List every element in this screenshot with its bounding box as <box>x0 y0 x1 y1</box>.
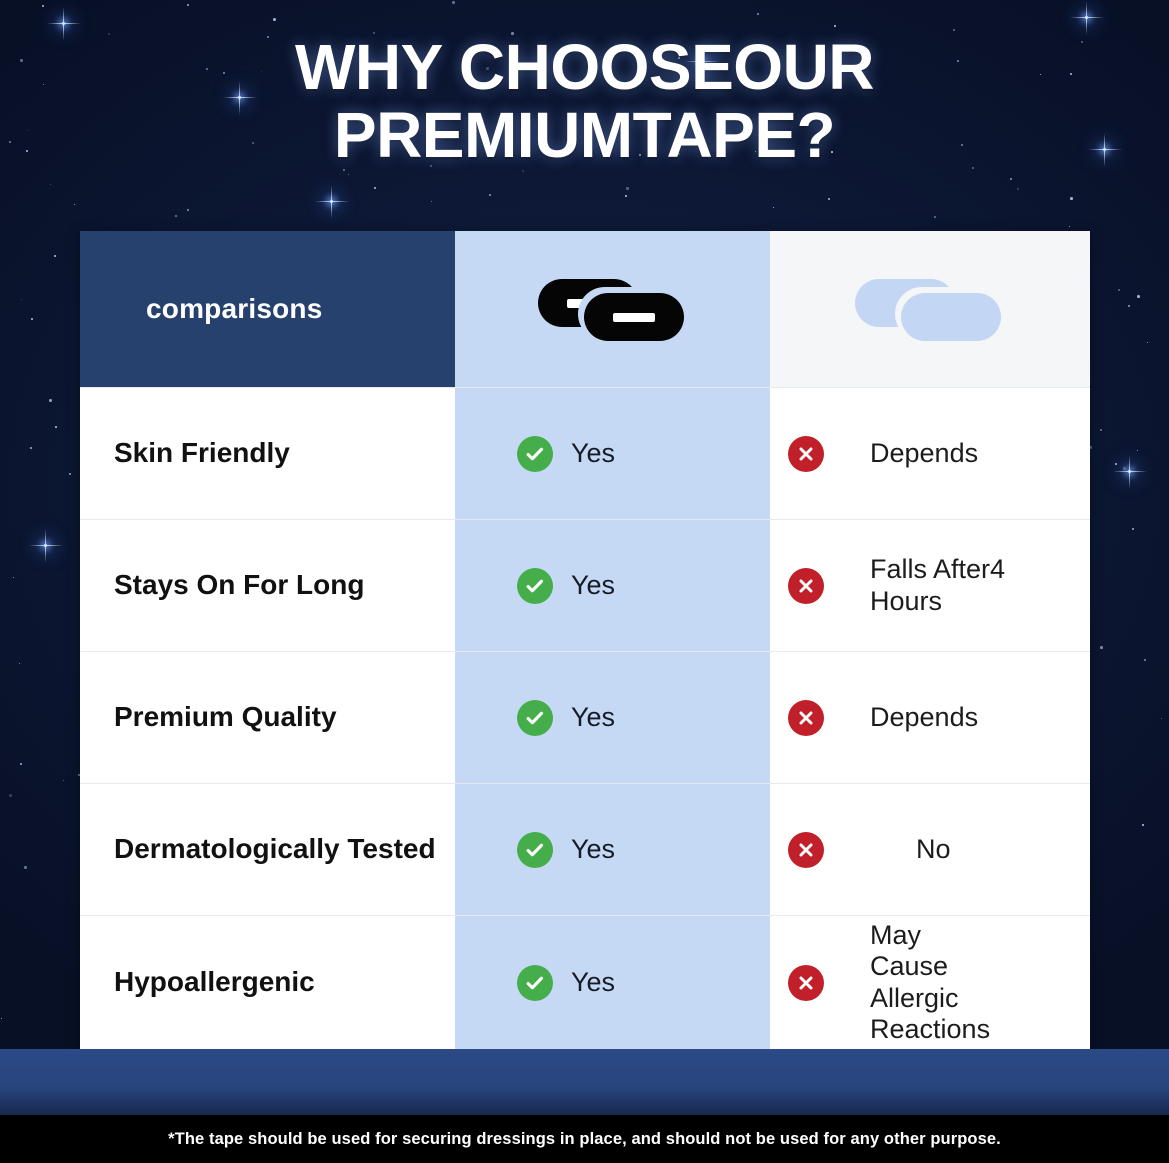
star-dot <box>1100 429 1102 431</box>
star-dot <box>1010 178 1012 180</box>
logo-bar-front <box>613 313 655 322</box>
star-dot <box>374 187 376 189</box>
bright-star-icon <box>62 22 65 25</box>
logo-pill-front <box>584 293 684 341</box>
our-product-cell: Yes <box>455 652 770 783</box>
star-dot <box>30 447 32 449</box>
header-cell-our-product <box>455 231 770 387</box>
star-dot <box>1100 646 1103 649</box>
star-dot <box>452 1 455 4</box>
page-title-line-2: PREMIUMTAPE? <box>120 102 1049 170</box>
star-dot <box>69 473 71 475</box>
star-dot <box>1161 718 1162 719</box>
x-circle-icon <box>788 700 824 736</box>
x-circle-icon <box>788 832 824 868</box>
other-product-value: Falls After4 Hours <box>844 554 1034 616</box>
star-dot <box>625 195 627 197</box>
x-circle-icon <box>788 568 824 604</box>
star-dot <box>757 13 759 15</box>
star-dot <box>54 255 56 257</box>
feature-label: Premium Quality <box>114 701 337 733</box>
star-dot <box>13 577 14 578</box>
star-dot <box>19 663 20 664</box>
other-product-cell: May Cause Allergic Reactions <box>770 916 1090 1049</box>
footer-disclaimer: *The tape should be used for securing dr… <box>168 1130 1001 1149</box>
star-dot <box>42 5 44 7</box>
table-header-row: comparisons <box>80 231 1090 387</box>
star-dot <box>1 1018 2 1019</box>
overlapping-pills-logo-light-icon <box>855 277 1005 341</box>
lower-blue-band <box>0 1049 1169 1115</box>
table-row: Dermatologically Tested Yes No <box>80 783 1090 915</box>
other-product-cell: Depends <box>770 652 1090 783</box>
footer-bar: *The tape should be used for securing dr… <box>0 1115 1169 1163</box>
our-product-value: Yes <box>571 834 615 865</box>
feature-label: Dermatologically Tested <box>114 833 436 865</box>
table-row: Premium Quality Yes Depends <box>80 651 1090 783</box>
feature-label: Stays On For Long <box>114 569 364 601</box>
our-product-value: Yes <box>571 438 615 469</box>
feature-cell: Premium Quality <box>80 652 455 783</box>
star-dot <box>834 25 836 27</box>
star-dot <box>49 399 52 402</box>
feature-cell: Hypoallergenic <box>80 916 455 1049</box>
star-dot <box>20 763 22 765</box>
check-circle-icon <box>517 965 553 1001</box>
star-dot <box>934 216 936 218</box>
star-dot <box>1017 188 1019 190</box>
other-product-cell: Depends <box>770 388 1090 519</box>
feature-cell: Dermatologically Tested <box>80 784 455 915</box>
star-dot <box>1123 467 1126 470</box>
star-dot <box>431 201 432 202</box>
star-dot <box>55 426 57 428</box>
star-dot <box>175 215 177 217</box>
feature-cell: Skin Friendly <box>80 388 455 519</box>
star-dot <box>1118 289 1120 291</box>
logo-pill-front-light <box>901 293 1001 341</box>
other-product-value: Depends <box>844 702 978 733</box>
star-dot <box>273 18 276 21</box>
star-dot <box>953 29 955 31</box>
star-dot <box>1132 528 1134 530</box>
our-product-value: Yes <box>571 702 615 733</box>
star-dot <box>1137 450 1138 451</box>
our-product-value: Yes <box>571 967 615 998</box>
check-circle-icon <box>517 832 553 868</box>
feature-label: Hypoallergenic <box>114 966 315 998</box>
star-dot <box>50 184 51 185</box>
x-circle-icon <box>788 436 824 472</box>
table-row: Skin Friendly Yes Depends <box>80 387 1090 519</box>
our-product-value: Yes <box>571 570 615 601</box>
other-product-value: Depends <box>844 438 978 469</box>
comparison-table: comparisons Skin Friendly <box>80 231 1090 1049</box>
feature-label: Skin Friendly <box>114 437 290 469</box>
comparisons-label: comparisons <box>146 293 322 325</box>
star-dot <box>9 794 12 797</box>
feature-cell: Stays On For Long <box>80 520 455 651</box>
other-product-value: May Cause Allergic Reactions <box>844 920 1004 1044</box>
header-cell-comparisons: comparisons <box>80 231 455 387</box>
infographic-root: WHY CHOOSEOUR PREMIUMTAPE? comparisons <box>0 0 1169 1163</box>
star-dot <box>828 198 830 200</box>
header-cell-other-product <box>770 231 1090 387</box>
star-dot <box>31 318 33 320</box>
logo-bar-front-light <box>930 313 972 322</box>
bright-star-icon <box>1085 16 1088 19</box>
our-product-cell: Yes <box>455 520 770 651</box>
star-dot <box>773 207 774 208</box>
bright-star-icon <box>44 544 47 547</box>
star-dot <box>1137 295 1140 298</box>
our-product-cell: Yes <box>455 784 770 915</box>
our-product-cell: Yes <box>455 916 770 1049</box>
star-dot <box>1144 659 1146 661</box>
star-dot <box>1069 226 1070 227</box>
page-title-line-1: WHY CHOOSEOUR <box>120 34 1049 102</box>
check-circle-icon <box>517 568 553 604</box>
star-dot <box>489 194 491 196</box>
check-circle-icon <box>517 436 553 472</box>
star-dot <box>1147 342 1148 343</box>
x-circle-icon <box>788 965 824 1001</box>
our-product-cell: Yes <box>455 388 770 519</box>
table-row: Stays On For Long Yes Falls After4 Hours <box>80 519 1090 651</box>
star-dot <box>63 780 64 781</box>
star-dot <box>626 187 629 190</box>
star-dot <box>1128 305 1130 307</box>
star-dot <box>21 299 22 300</box>
bright-star-icon <box>330 200 333 203</box>
overlapping-pills-logo-dark-icon <box>538 277 688 341</box>
bright-star-icon <box>1128 470 1131 473</box>
star-dot <box>187 209 189 211</box>
star-dot <box>74 204 75 205</box>
table-row: Hypoallergenic Yes May Cause Allergic Re… <box>80 915 1090 1049</box>
star-dot <box>1070 197 1073 200</box>
other-product-value: No <box>844 834 951 865</box>
star-dot <box>348 174 349 175</box>
star-dot <box>187 4 189 6</box>
other-product-cell: Falls After4 Hours <box>770 520 1090 651</box>
star-dot <box>1115 463 1117 465</box>
check-circle-icon <box>517 700 553 736</box>
other-product-cell: No <box>770 784 1090 915</box>
page-title: WHY CHOOSEOUR PREMIUMTAPE? <box>0 34 1169 170</box>
star-dot <box>1142 824 1144 826</box>
star-dot <box>24 866 27 869</box>
